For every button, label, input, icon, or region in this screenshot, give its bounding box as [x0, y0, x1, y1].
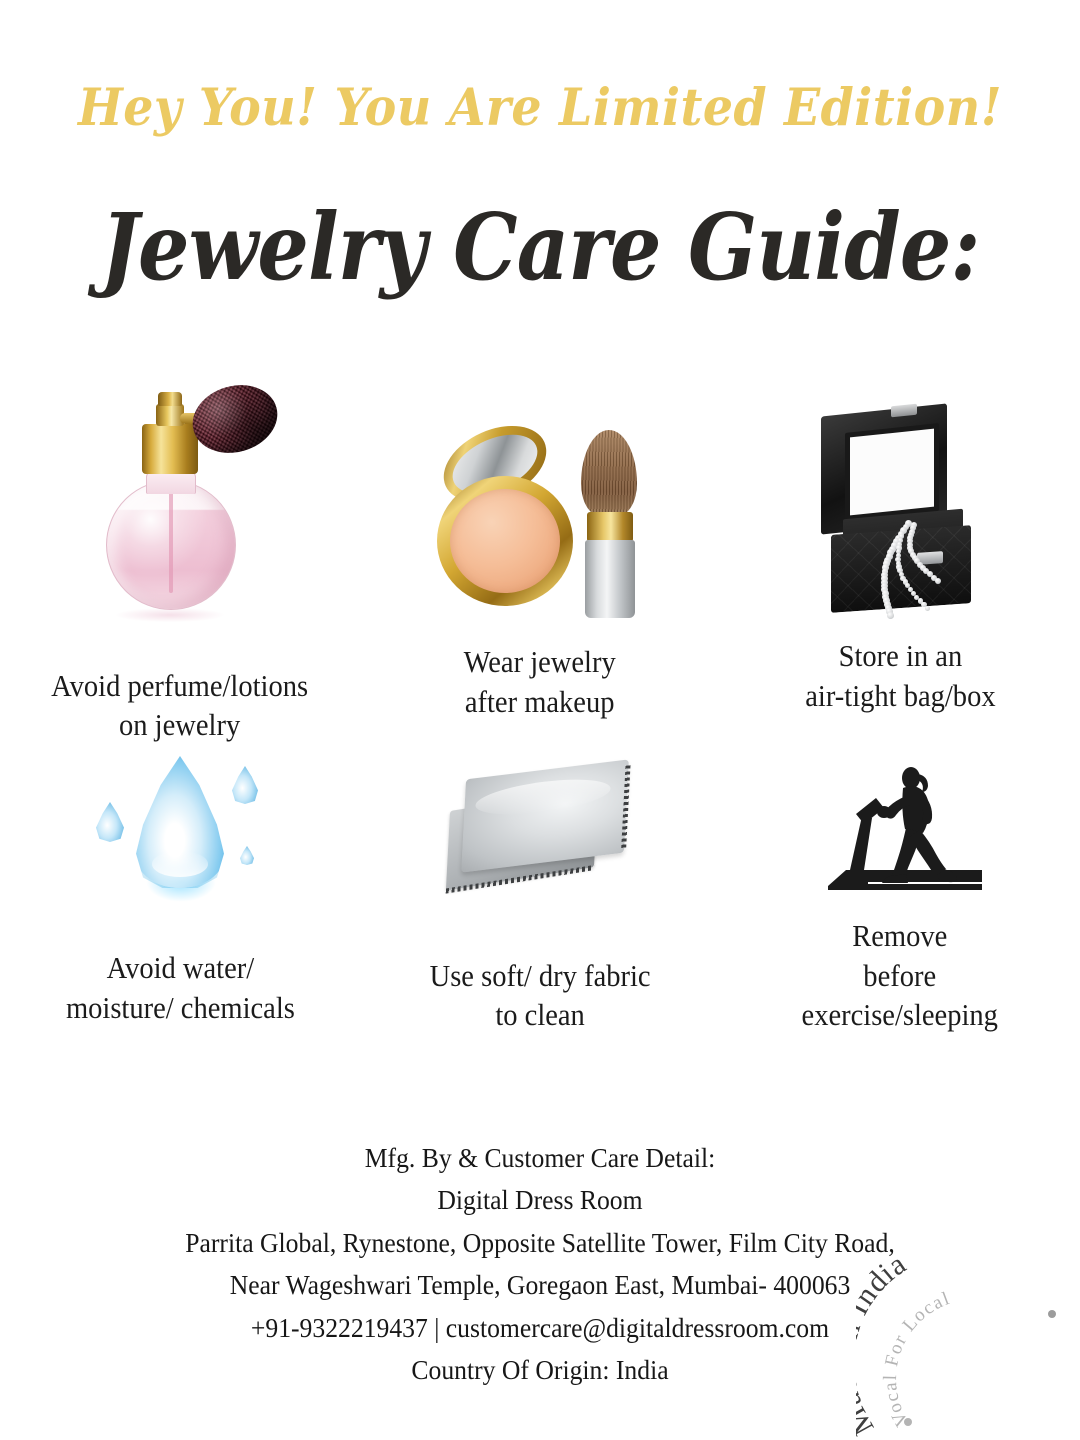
perfume-body [106, 480, 236, 610]
badge-inner-text: Vocal For Local [880, 1288, 953, 1430]
brush-ferrule [587, 512, 633, 542]
made-in-india-badge: Made In India Vocal For Local [856, 1252, 1080, 1440]
tip-caption: Wear jewelry after makeup [464, 642, 616, 721]
perfume-shoulder [146, 471, 196, 494]
cloth-art [435, 745, 645, 904]
makeup-art [435, 380, 645, 620]
perfume-reflection [116, 608, 224, 622]
water-art [80, 745, 280, 910]
brush-bristles [581, 430, 637, 516]
jewelry-box-art [805, 380, 995, 620]
tip-caption: Remove before exercise/sleeping [802, 916, 998, 1035]
tip-avoid-water: Avoid water/ moisture/ chemicals [0, 745, 360, 1035]
tip-use-soft-fabric: Use soft/ dry fabric to clean [360, 745, 720, 1035]
box-clasp [917, 551, 943, 565]
cloth-front-fold [461, 759, 629, 872]
care-guide-poster: Hey You! You Are Limited Edition! Jewelr… [0, 0, 1080, 1440]
makeup-compact-brush-icon [435, 424, 645, 620]
badge-dot-right [1048, 1310, 1056, 1318]
compact-powder-base [437, 476, 573, 606]
perfume-art [80, 380, 280, 620]
drop-small-2 [96, 802, 124, 842]
perfume-atomizer-bulb [185, 375, 286, 462]
tip-caption: Store in an air-tight bag/box [805, 636, 995, 715]
box-mirror [845, 423, 939, 521]
treadmill-art [810, 745, 990, 908]
brush-handle [585, 540, 635, 618]
drop-main [136, 756, 224, 888]
cleaning-cloth-icon [435, 754, 645, 904]
tip-wear-after-makeup: Wear jewelry after makeup [360, 380, 720, 745]
perfume-cap [158, 392, 182, 406]
tip-remove-before-exercise: Remove before exercise/sleeping [720, 745, 1080, 1035]
drop-small-3 [240, 846, 254, 865]
page-title: Jewelry Care Guide: [65, 193, 1015, 301]
tips-row-2: Avoid water/ moisture/ chemicals Use sof… [0, 745, 1080, 1035]
water-drop-icon [80, 750, 280, 910]
tips-grid: Avoid perfume/lotions on jewelry Wear je… [0, 380, 1080, 1035]
tip-caption: Use soft/ dry fabric to clean [430, 956, 651, 1035]
tips-row-1: Avoid perfume/lotions on jewelry Wear je… [0, 380, 1080, 745]
perfume-bottle-icon [80, 388, 280, 620]
badge-dot-left [904, 1418, 912, 1426]
box-quilted-base [831, 525, 971, 613]
treadmill-runner-icon [810, 758, 990, 908]
tip-caption: Avoid perfume/lotions on jewelry [52, 666, 309, 745]
tip-store-airtight: Store in an air-tight bag/box [720, 380, 1080, 745]
badge-inner-text-path: Vocal For Local [880, 1288, 953, 1430]
tip-caption: Avoid water/ moisture/ chemicals [66, 948, 295, 1027]
tagline: Hey You! You Are Limited Edition! [38, 78, 1042, 138]
perfume-gold-collar [142, 424, 198, 474]
drop-small-1 [232, 766, 258, 804]
footer-company: Digital Dress Room [27, 1184, 1053, 1217]
jewelry-box-icon [805, 410, 995, 620]
footer-heading: Mfg. By & Customer Care Detail: [27, 1142, 1053, 1175]
tip-avoid-perfume: Avoid perfume/lotions on jewelry [0, 380, 360, 745]
